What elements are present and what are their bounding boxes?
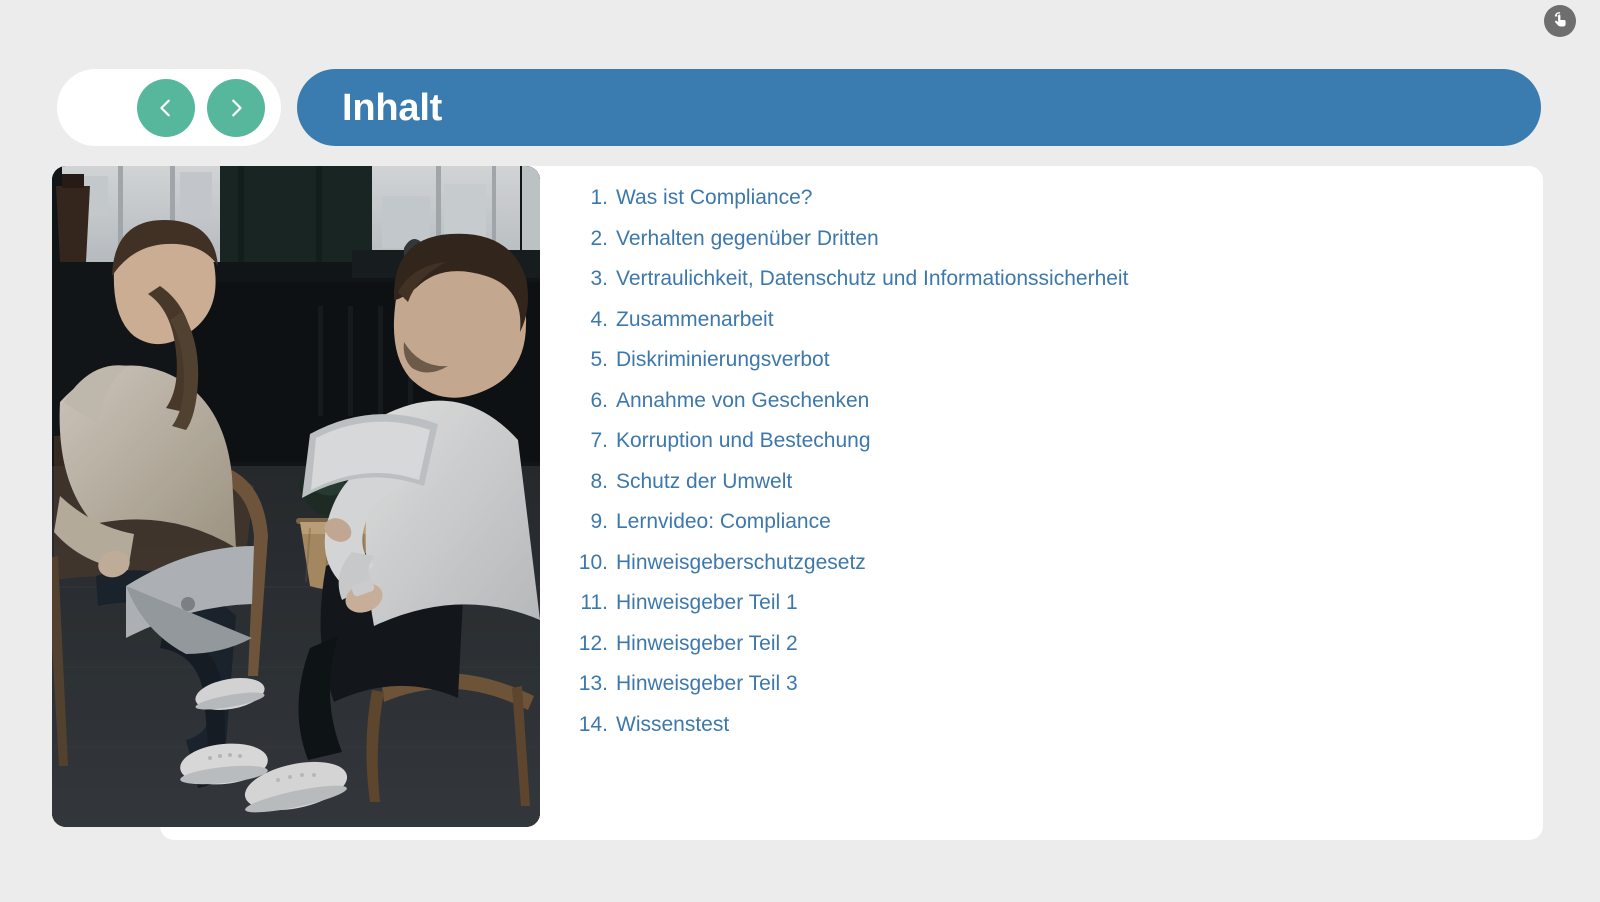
toc-item-label: Annahme von Geschenken [616, 389, 869, 413]
toc-item[interactable]: 4.Zusammenarbeit [560, 308, 1520, 349]
toc-item[interactable]: 1.Was ist Compliance? [560, 186, 1520, 227]
tap-replay-icon [1550, 11, 1570, 31]
toc-item[interactable]: 10.Hinweisgeberschutzgesetz [560, 551, 1520, 592]
navigation-pill [57, 69, 281, 146]
toc-item-label: Wissenstest [616, 713, 729, 737]
toc-item-label: Hinweisgeber Teil 1 [616, 591, 798, 615]
toc-item[interactable]: 8.Schutz der Umwelt [560, 470, 1520, 511]
toc-item-label: Hinweisgeber Teil 2 [616, 632, 798, 656]
next-button[interactable] [207, 79, 265, 137]
illustration-photo [52, 166, 540, 827]
toc-item[interactable]: 13.Hinweisgeber Teil 3 [560, 672, 1520, 713]
header: Inhalt [57, 69, 1541, 146]
toc-item-label: Schutz der Umwelt [616, 470, 792, 494]
toc-item-label: Zusammenarbeit [616, 308, 774, 332]
toc-item-label: Vertraulichkeit, Datenschutz und Informa… [616, 267, 1128, 291]
toc-item-label: Lernvideo: Compliance [616, 510, 831, 534]
toc-item-number: 12. [560, 632, 608, 656]
toc-item[interactable]: 5.Diskriminierungsverbot [560, 348, 1520, 389]
title-bar: Inhalt [297, 69, 1541, 146]
toc-item-number: 2. [560, 227, 608, 251]
replay-badge[interactable] [1544, 5, 1576, 37]
toc-item-label: Diskriminierungsverbot [616, 348, 830, 372]
toc-item[interactable]: 3.Vertraulichkeit, Datenschutz und Infor… [560, 267, 1520, 308]
toc-item-number: 8. [560, 470, 608, 494]
page-title: Inhalt [342, 89, 442, 127]
toc-item-number: 3. [560, 267, 608, 291]
toc-item-label: Verhalten gegenüber Dritten [616, 227, 879, 251]
toc-item-number: 7. [560, 429, 608, 453]
toc-item-number: 1. [560, 186, 608, 210]
toc-item[interactable]: 11.Hinweisgeber Teil 1 [560, 591, 1520, 632]
toc-item-number: 11. [560, 591, 608, 615]
toc-item[interactable]: 12.Hinweisgeber Teil 2 [560, 632, 1520, 673]
toc-item-number: 9. [560, 510, 608, 534]
toc-item-label: Hinweisgeberschutzgesetz [616, 551, 866, 575]
toc-item-number: 10. [560, 551, 608, 575]
toc-item[interactable]: 2.Verhalten gegenüber Dritten [560, 227, 1520, 268]
chevron-left-icon [155, 97, 177, 119]
toc-item[interactable]: 14.Wissenstest [560, 713, 1520, 754]
toc-item-number: 14. [560, 713, 608, 737]
toc-item-number: 5. [560, 348, 608, 372]
toc-item-label: Korruption und Bestechung [616, 429, 871, 453]
office-meeting-image [52, 166, 540, 827]
toc-item-label: Was ist Compliance? [616, 186, 812, 210]
chevron-right-icon [225, 97, 247, 119]
toc-item[interactable]: 6.Annahme von Geschenken [560, 389, 1520, 430]
table-of-contents: 1.Was ist Compliance?2.Verhalten gegenüb… [560, 186, 1520, 753]
toc-item-number: 13. [560, 672, 608, 696]
toc-item-label: Hinweisgeber Teil 3 [616, 672, 798, 696]
toc-item[interactable]: 7.Korruption und Bestechung [560, 429, 1520, 470]
toc-item[interactable]: 9.Lernvideo: Compliance [560, 510, 1520, 551]
toc-item-number: 4. [560, 308, 608, 332]
previous-button[interactable] [137, 79, 195, 137]
toc-item-number: 6. [560, 389, 608, 413]
